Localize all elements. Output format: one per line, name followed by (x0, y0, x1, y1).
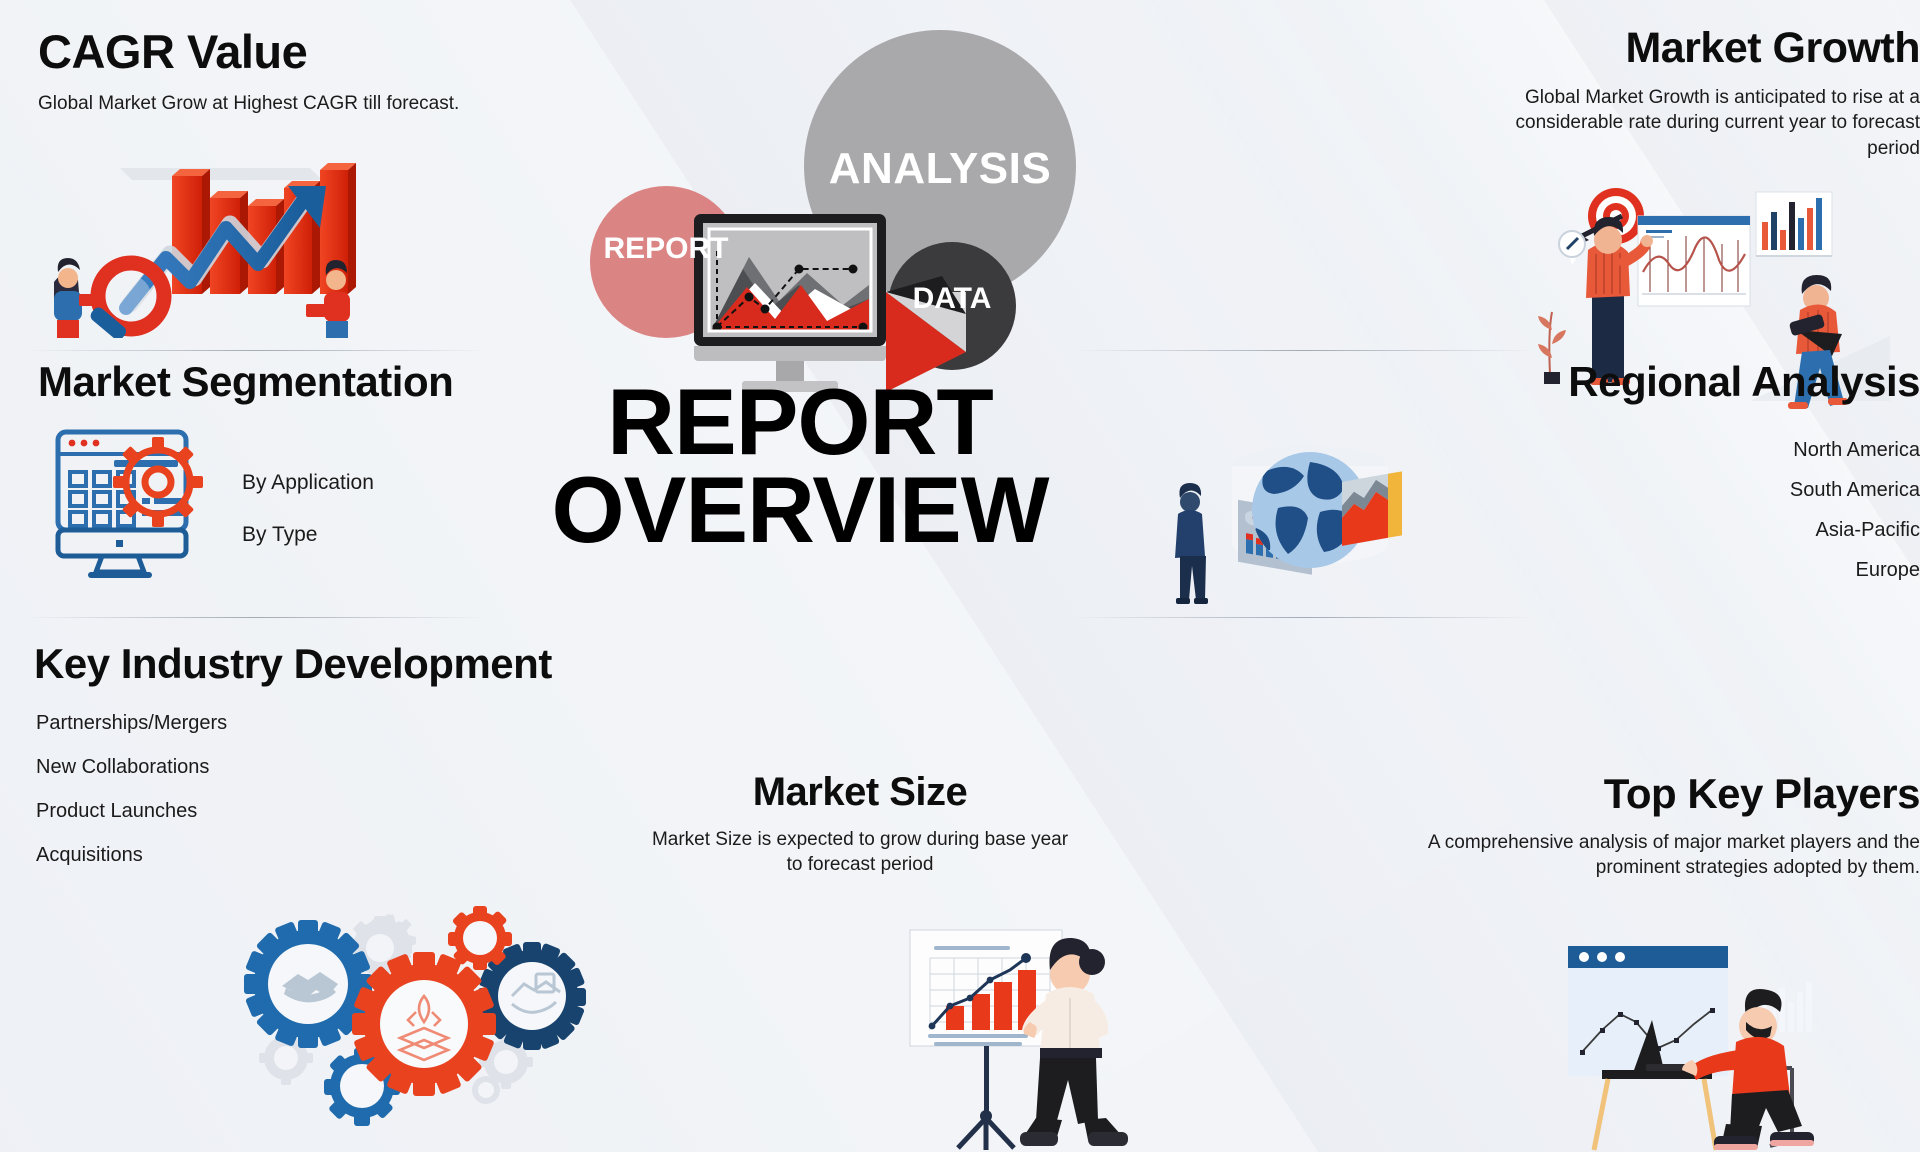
page-title: REPORT OVERVIEW (520, 378, 1080, 555)
industry-item: Acquisitions (36, 836, 336, 874)
key-industry-development-items: Partnerships/Mergers New Collaborations … (36, 704, 336, 880)
data-circle-label: DATA (888, 282, 1016, 316)
report-circle-label: REPORT (590, 232, 742, 266)
section-market-size: Market Size Market Size is expected to g… (650, 770, 1070, 878)
regional-analysis-regions: North America South America Asia-Pacific… (1380, 430, 1920, 590)
market-segmentation-items: By Application By Type (242, 460, 502, 564)
region-item: South America (1380, 470, 1920, 510)
market-size-title: Market Size (650, 770, 1070, 815)
section-top-key-players: Top Key Players A comprehensive analysis… (1060, 770, 1920, 881)
top-key-players-illustration (1540, 918, 1850, 1152)
hero-line-1: REPORT (520, 378, 1080, 466)
region-item: Asia-Pacific (1380, 510, 1920, 550)
market-size-illustration (880, 918, 1140, 1152)
market-growth-description: Global Market Growth is anticipated to r… (1460, 85, 1920, 161)
divider-right-top (1075, 350, 1535, 351)
market-segmentation-title: Market Segmentation (38, 358, 508, 406)
divider-left-top (26, 350, 486, 351)
section-key-industry-development: Key Industry Development (34, 640, 594, 688)
top-key-players-description: A comprehensive analysis of major market… (1390, 830, 1920, 881)
key-industry-development-illustration (240, 900, 600, 1150)
industry-item: Product Launches (36, 792, 336, 830)
cagr-description: Global Market Grow at Highest CAGR till … (38, 91, 508, 116)
report-overview-infographic: CAGR Value Global Market Grow at Highest… (0, 0, 1920, 1152)
cagr-illustration (30, 128, 360, 338)
segmentation-item: By Application (242, 460, 502, 506)
divider-right-bottom (1075, 617, 1535, 618)
region-item: Europe (1380, 550, 1920, 590)
regional-analysis-title: Regional Analysis (1060, 358, 1920, 406)
industry-item: New Collaborations (36, 748, 336, 786)
monitor-neck (694, 346, 886, 361)
divider-left-bottom (26, 617, 486, 618)
market-segmentation-illustration (50, 426, 230, 586)
section-market-growth: Market Growth Global Market Growth is an… (1060, 24, 1920, 161)
center-graphic: ANALYSIS REPORT DATA (590, 14, 1010, 404)
section-regional-analysis: Regional Analysis (1060, 358, 1920, 406)
key-industry-development-title: Key Industry Development (34, 640, 594, 688)
cagr-title: CAGR Value (38, 24, 508, 79)
top-key-players-title: Top Key Players (1060, 770, 1920, 818)
section-market-segmentation: Market Segmentation (38, 358, 508, 406)
hero-line-2: OVERVIEW (520, 466, 1080, 554)
industry-item: Partnerships/Mergers (36, 704, 336, 742)
section-cagr-value: CAGR Value Global Market Grow at Highest… (38, 24, 508, 116)
analysis-circle-label: ANALYSIS (804, 144, 1076, 194)
segmentation-item: By Type (242, 512, 502, 558)
region-item: North America (1380, 430, 1920, 470)
market-size-description: Market Size is expected to grow during b… (650, 827, 1070, 878)
market-growth-title: Market Growth (1060, 24, 1920, 73)
